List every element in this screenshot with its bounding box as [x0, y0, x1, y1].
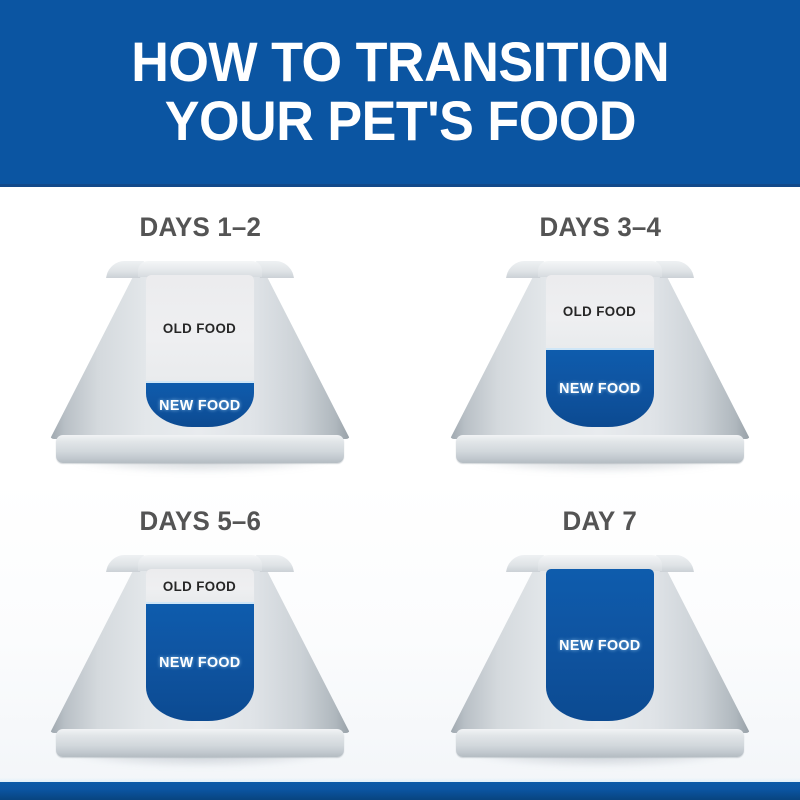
- food-bowl: OLD FOOD NEW FOOD: [450, 257, 750, 469]
- step-days-5-6: DAYS 5–6 OLD FOOD NEW FOOD: [0, 486, 400, 780]
- food-bowl: NEW FOOD: [450, 551, 750, 763]
- new-food-label: NEW FOOD: [559, 381, 640, 396]
- page-title-line-2: YOUR PET'S FOOD: [164, 94, 635, 149]
- bowl-interior: OLD FOOD NEW FOOD: [146, 569, 254, 721]
- bowl-base: [456, 435, 744, 463]
- infographic-page: HOW TO TRANSITION YOUR PET'S FOOD DAYS 1…: [0, 0, 800, 800]
- old-food-label: OLD FOOD: [163, 579, 236, 593]
- step-title: DAYS 1–2: [139, 212, 261, 243]
- step-title: DAYS 5–6: [139, 506, 261, 537]
- bowl-base: [56, 729, 344, 757]
- new-food-fill: NEW FOOD: [146, 602, 254, 721]
- header-banner: HOW TO TRANSITION YOUR PET'S FOOD: [0, 0, 800, 187]
- old-food-label: OLD FOOD: [163, 321, 236, 335]
- page-title-line-1: HOW TO TRANSITION: [131, 35, 669, 90]
- old-food-fill: OLD FOOD: [146, 569, 254, 602]
- new-food-label: NEW FOOD: [159, 398, 240, 413]
- step-day-7: DAY 7 NEW FOOD: [400, 486, 800, 780]
- bowl-base: [456, 729, 744, 757]
- new-food-fill: NEW FOOD: [546, 348, 654, 427]
- bowl-base: [56, 435, 344, 463]
- new-food-fill: NEW FOOD: [146, 381, 254, 427]
- step-title: DAY 7: [563, 506, 637, 537]
- step-title: DAYS 3–4: [539, 212, 661, 243]
- step-days-1-2: DAYS 1–2 OLD FOOD NEW FOOD: [0, 192, 400, 486]
- new-food-label: NEW FOOD: [559, 638, 640, 653]
- old-food-fill: OLD FOOD: [546, 275, 654, 348]
- bowl-interior: OLD FOOD NEW FOOD: [146, 275, 254, 427]
- old-food-label: OLD FOOD: [563, 304, 636, 318]
- bowl-interior: NEW FOOD: [546, 569, 654, 721]
- new-food-label: NEW FOOD: [159, 655, 240, 670]
- old-food-fill: OLD FOOD: [146, 275, 254, 381]
- step-days-3-4: DAYS 3–4 OLD FOOD NEW FOOD: [400, 192, 800, 486]
- new-food-fill: NEW FOOD: [546, 569, 654, 721]
- steps-grid: DAYS 1–2 OLD FOOD NEW FOOD: [0, 192, 800, 780]
- footer-banner: [0, 782, 800, 800]
- food-bowl: OLD FOOD NEW FOOD: [50, 257, 350, 469]
- bowl-interior: OLD FOOD NEW FOOD: [546, 275, 654, 427]
- food-bowl: OLD FOOD NEW FOOD: [50, 551, 350, 763]
